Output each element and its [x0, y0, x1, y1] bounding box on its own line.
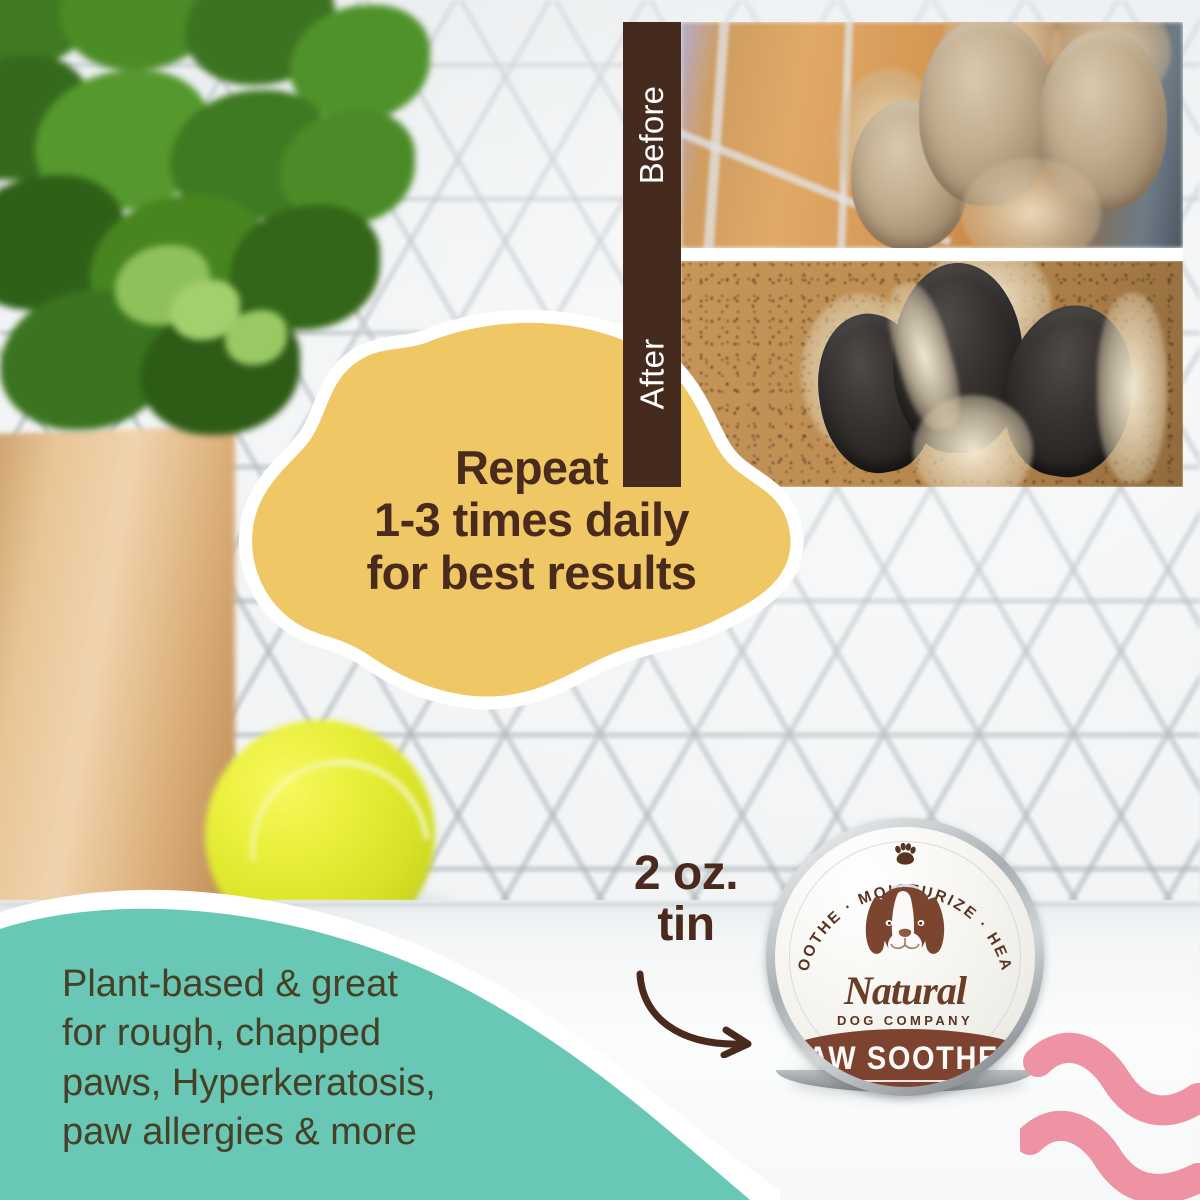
size-callout-line-2: tin — [596, 899, 776, 950]
after-label-bar: After — [623, 261, 681, 487]
french-bulldog-logo-icon — [851, 883, 959, 969]
healthy-dog-paw — [801, 261, 1151, 487]
before-label-bar: Before — [623, 22, 681, 248]
after-label-text: After — [633, 339, 671, 410]
pink-squiggle-icon — [1020, 1022, 1200, 1200]
before-row: Before — [623, 22, 1183, 248]
brand-name-script: Natural — [775, 967, 1035, 1014]
benefits-text: Plant-based & great for rough, chapped p… — [62, 960, 532, 1158]
repeat-instructions-callout: Repeat 1-3 times daily for best results — [250, 320, 795, 705]
benefit-line-1: Plant-based & great — [62, 960, 532, 1009]
net-size: 2 OZ · 59 mL — [775, 1085, 1035, 1087]
tin-product-band: PAW SOOTHER 2 OZ · 59 mL — [775, 1029, 1035, 1087]
size-callout: 2 oz. tin — [596, 848, 776, 951]
tin-lid-label: SOOTHE · MOISTURIZE · HEAL — [775, 827, 1035, 1087]
callout-line-1: Repeat — [455, 442, 608, 494]
benefit-line-4: paw allergies & more — [62, 1108, 532, 1157]
callout-line-2: 1-3 times daily — [374, 494, 689, 546]
callout-line-3: for best results — [367, 547, 697, 599]
rough-dog-paw — [841, 22, 1181, 248]
band-divider — [823, 1080, 987, 1082]
benefit-line-3: paws, Hyperkeratosis, — [62, 1059, 532, 1108]
product-infographic: Before — [0, 0, 1200, 1200]
benefit-line-2: for rough, chapped — [62, 1009, 532, 1058]
product-tin[interactable]: SOOTHE · MOISTURIZE · HEAL — [766, 818, 1044, 1096]
product-name: PAW SOOTHER — [775, 1041, 1035, 1078]
size-callout-line-1: 2 oz. — [596, 848, 776, 899]
before-photo — [681, 22, 1183, 248]
brand-subtitle: DOG COMPANY — [775, 1013, 1035, 1028]
before-label-text: Before — [633, 86, 671, 184]
